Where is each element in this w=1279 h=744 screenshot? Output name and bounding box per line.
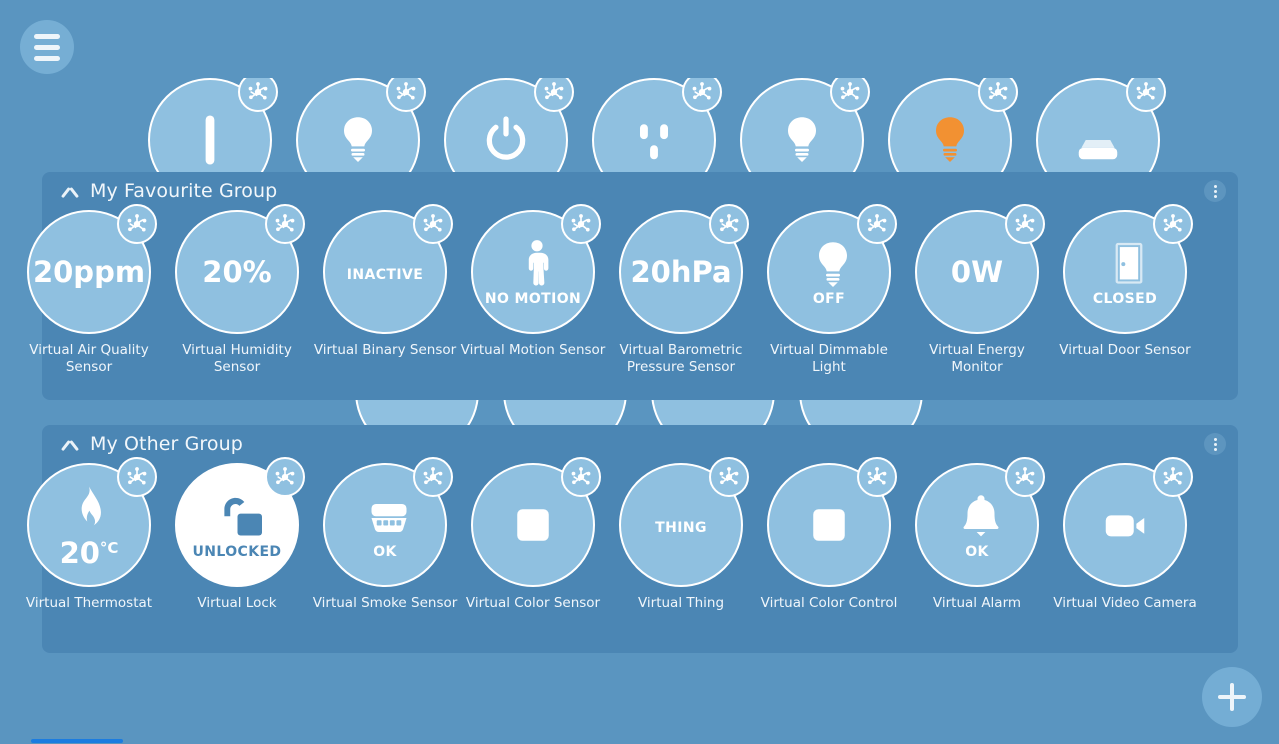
tile-circle[interactable]: 20°C [27,463,151,587]
device-tile[interactable]: CLOSEDVirtual Door Sensor [1051,210,1199,359]
device-tile[interactable]: Virtual Video Camera [1051,463,1199,612]
tile-circle[interactable] [1063,463,1187,587]
tile-label: Virtual Door Sensor [1051,342,1199,359]
hamburger-bar [34,45,60,50]
tile-label: Virtual Smoke Sensor [311,595,459,612]
tile-circle[interactable]: INACTIVE [323,210,447,334]
group-title: My Other Group [90,433,243,455]
zigbee-icon[interactable] [1005,457,1045,497]
tile-label: Virtual Energy Monitor [903,342,1051,376]
zigbee-icon[interactable] [265,457,305,497]
kebab-menu-icon[interactable] [1204,433,1226,455]
hamburger-bar [34,56,60,61]
device-tile[interactable]: OKVirtual Alarm [903,463,1051,612]
flame-icon [61,483,117,539]
color-swatch-icon [801,497,857,553]
device-tile[interactable]: 20hPaVirtual Barometric Pressure Sensor [607,210,755,376]
zigbee-icon[interactable] [265,204,305,244]
tile-value: 20°C [60,539,119,568]
tile-value: 20% [202,258,271,287]
zigbee-icon[interactable] [682,78,722,112]
tile-label: Virtual Alarm [903,595,1051,612]
zigbee-icon[interactable] [857,204,897,244]
motion-person-icon [509,237,557,285]
zigbee-icon[interactable] [561,457,601,497]
light-bulb-icon [774,112,830,168]
tile-value: 0W [951,258,1003,287]
horizontal-scrollbar[interactable] [0,738,1279,744]
tile-state: INACTIVE [347,267,423,283]
device-tile[interactable]: OKVirtual Smoke Sensor [311,463,459,612]
zigbee-icon[interactable] [1153,204,1193,244]
device-tile[interactable]: THINGVirtual Thing [607,463,755,612]
tile-label: Virtual Thing [607,595,755,612]
zigbee-icon[interactable] [709,457,749,497]
bell-icon [953,490,1001,538]
tile-state: NO MOTION [485,291,581,307]
add-device-fab[interactable] [1202,667,1262,727]
unlocked-padlock-icon [213,490,261,538]
kebab-dot [1214,438,1217,441]
device-tile[interactable]: 20°CVirtual Thermostat [15,463,163,612]
tile-circle[interactable]: 20hPa [619,210,743,334]
zigbee-icon[interactable] [117,457,157,497]
tile-circle[interactable] [471,463,595,587]
zigbee-icon[interactable] [978,78,1018,112]
tile-label: Virtual Humidity Sensor [163,342,311,376]
device-tile[interactable]: 0WVirtual Energy Monitor [903,210,1051,376]
group-title: My Favourite Group [90,180,277,202]
zigbee-icon[interactable] [857,457,897,497]
light-bulb-icon [805,237,853,285]
scrollbar-thumb[interactable] [31,739,123,743]
zigbee-icon[interactable] [709,204,749,244]
power-switch-icon [478,112,534,168]
color-swatch-icon [505,497,561,553]
tile-circle[interactable]: 20ppm [27,210,151,334]
kebab-dot [1214,185,1217,188]
zigbee-icon[interactable] [1126,78,1166,112]
tile-label: Virtual Barometric Pressure Sensor [607,342,755,376]
tile-circle[interactable]: OK [915,463,1039,587]
tile-circle[interactable]: 0W [915,210,1039,334]
kebab-dot [1214,195,1217,198]
group-header[interactable]: My Favourite Group [42,172,1238,210]
tile-circle[interactable]: OK [323,463,447,587]
light-bulb-orange-icon [922,112,978,168]
tile-label: Virtual Air Quality Sensor [15,342,163,376]
device-tile[interactable]: Virtual Color Control [755,463,903,612]
tile-unit: °C [100,539,119,557]
tile-value: 20ppm [33,258,145,287]
tile-state: UNLOCKED [193,544,282,560]
device-tile[interactable]: INACTIVEVirtual Binary Sensor [311,210,459,359]
smoke-detector-icon [361,490,409,538]
zigbee-icon[interactable] [413,457,453,497]
zigbee-icon[interactable] [561,204,601,244]
kebab-menu-icon[interactable] [1204,180,1226,202]
group-panel-other: My Other Group 20°CVirtual ThermostatUNL… [42,425,1238,653]
kebab-dot [1214,443,1217,446]
dimmer-switch-icon [182,112,238,168]
hamburger-menu-button[interactable] [20,20,74,74]
tile-circle[interactable]: THING [619,463,743,587]
outlet-icon [626,112,682,168]
tile-value: 20hPa [630,258,731,287]
device-tile[interactable]: Virtual Color Sensor [459,463,607,612]
tile-circle[interactable]: 20% [175,210,299,334]
tile-state: CLOSED [1093,291,1157,307]
hamburger-bar [34,34,60,39]
device-tile[interactable]: 20ppmVirtual Air Quality Sensor [15,210,163,376]
tile-label: Virtual Color Control [755,595,903,612]
chevron-up-icon[interactable] [60,434,80,454]
tile-circle[interactable]: OFF [767,210,891,334]
zigbee-icon[interactable] [117,204,157,244]
group-panel-favourite: My Favourite Group 20ppmVirtual Air Qual… [42,172,1238,400]
video-camera-icon [1097,497,1153,553]
tile-label: Virtual Lock [163,595,311,612]
device-tile[interactable]: OFFVirtual Dimmable Light [755,210,903,376]
zigbee-icon[interactable] [1153,457,1193,497]
zigbee-icon[interactable] [1005,204,1045,244]
tile-state: OK [373,544,397,560]
zigbee-icon[interactable] [830,78,870,112]
tile-circle[interactable]: UNLOCKED [175,463,299,587]
kebab-dot [1214,448,1217,451]
tile-label: Virtual Color Sensor [459,595,607,612]
dashboard-root: Virtual Leak SensorVirtual TemperatureVi… [0,0,1279,744]
device-tile[interactable]: NO MOTIONVirtual Motion Sensor [459,210,607,359]
group-header[interactable]: My Other Group [42,425,1238,463]
tile-label: Virtual Motion Sensor [459,342,607,359]
device-tile[interactable]: UNLOCKEDVirtual Lock [163,463,311,612]
tile-label: Virtual Dimmable Light [755,342,903,376]
zigbee-icon[interactable] [386,78,426,112]
tile-circle[interactable]: CLOSED [1063,210,1187,334]
tile-label: Virtual Thermostat [15,595,163,612]
door-icon [1101,237,1149,285]
tile-state: OK [965,544,989,560]
tile-state: THING [655,520,707,536]
zigbee-icon[interactable] [413,204,453,244]
tile-circle[interactable] [767,463,891,587]
tile-label: Virtual Binary Sensor [311,342,459,359]
tile-label: Virtual Video Camera [1051,595,1199,612]
device-tile[interactable]: 20%Virtual Humidity Sensor [163,210,311,376]
zigbee-icon[interactable] [238,78,278,112]
light-bulb-icon [330,112,386,168]
chevron-up-icon[interactable] [60,181,80,201]
shade-icon [1070,112,1126,168]
zigbee-icon[interactable] [534,78,574,112]
tile-circle[interactable]: NO MOTION [471,210,595,334]
kebab-dot [1214,190,1217,193]
tile-state: OFF [813,291,845,307]
